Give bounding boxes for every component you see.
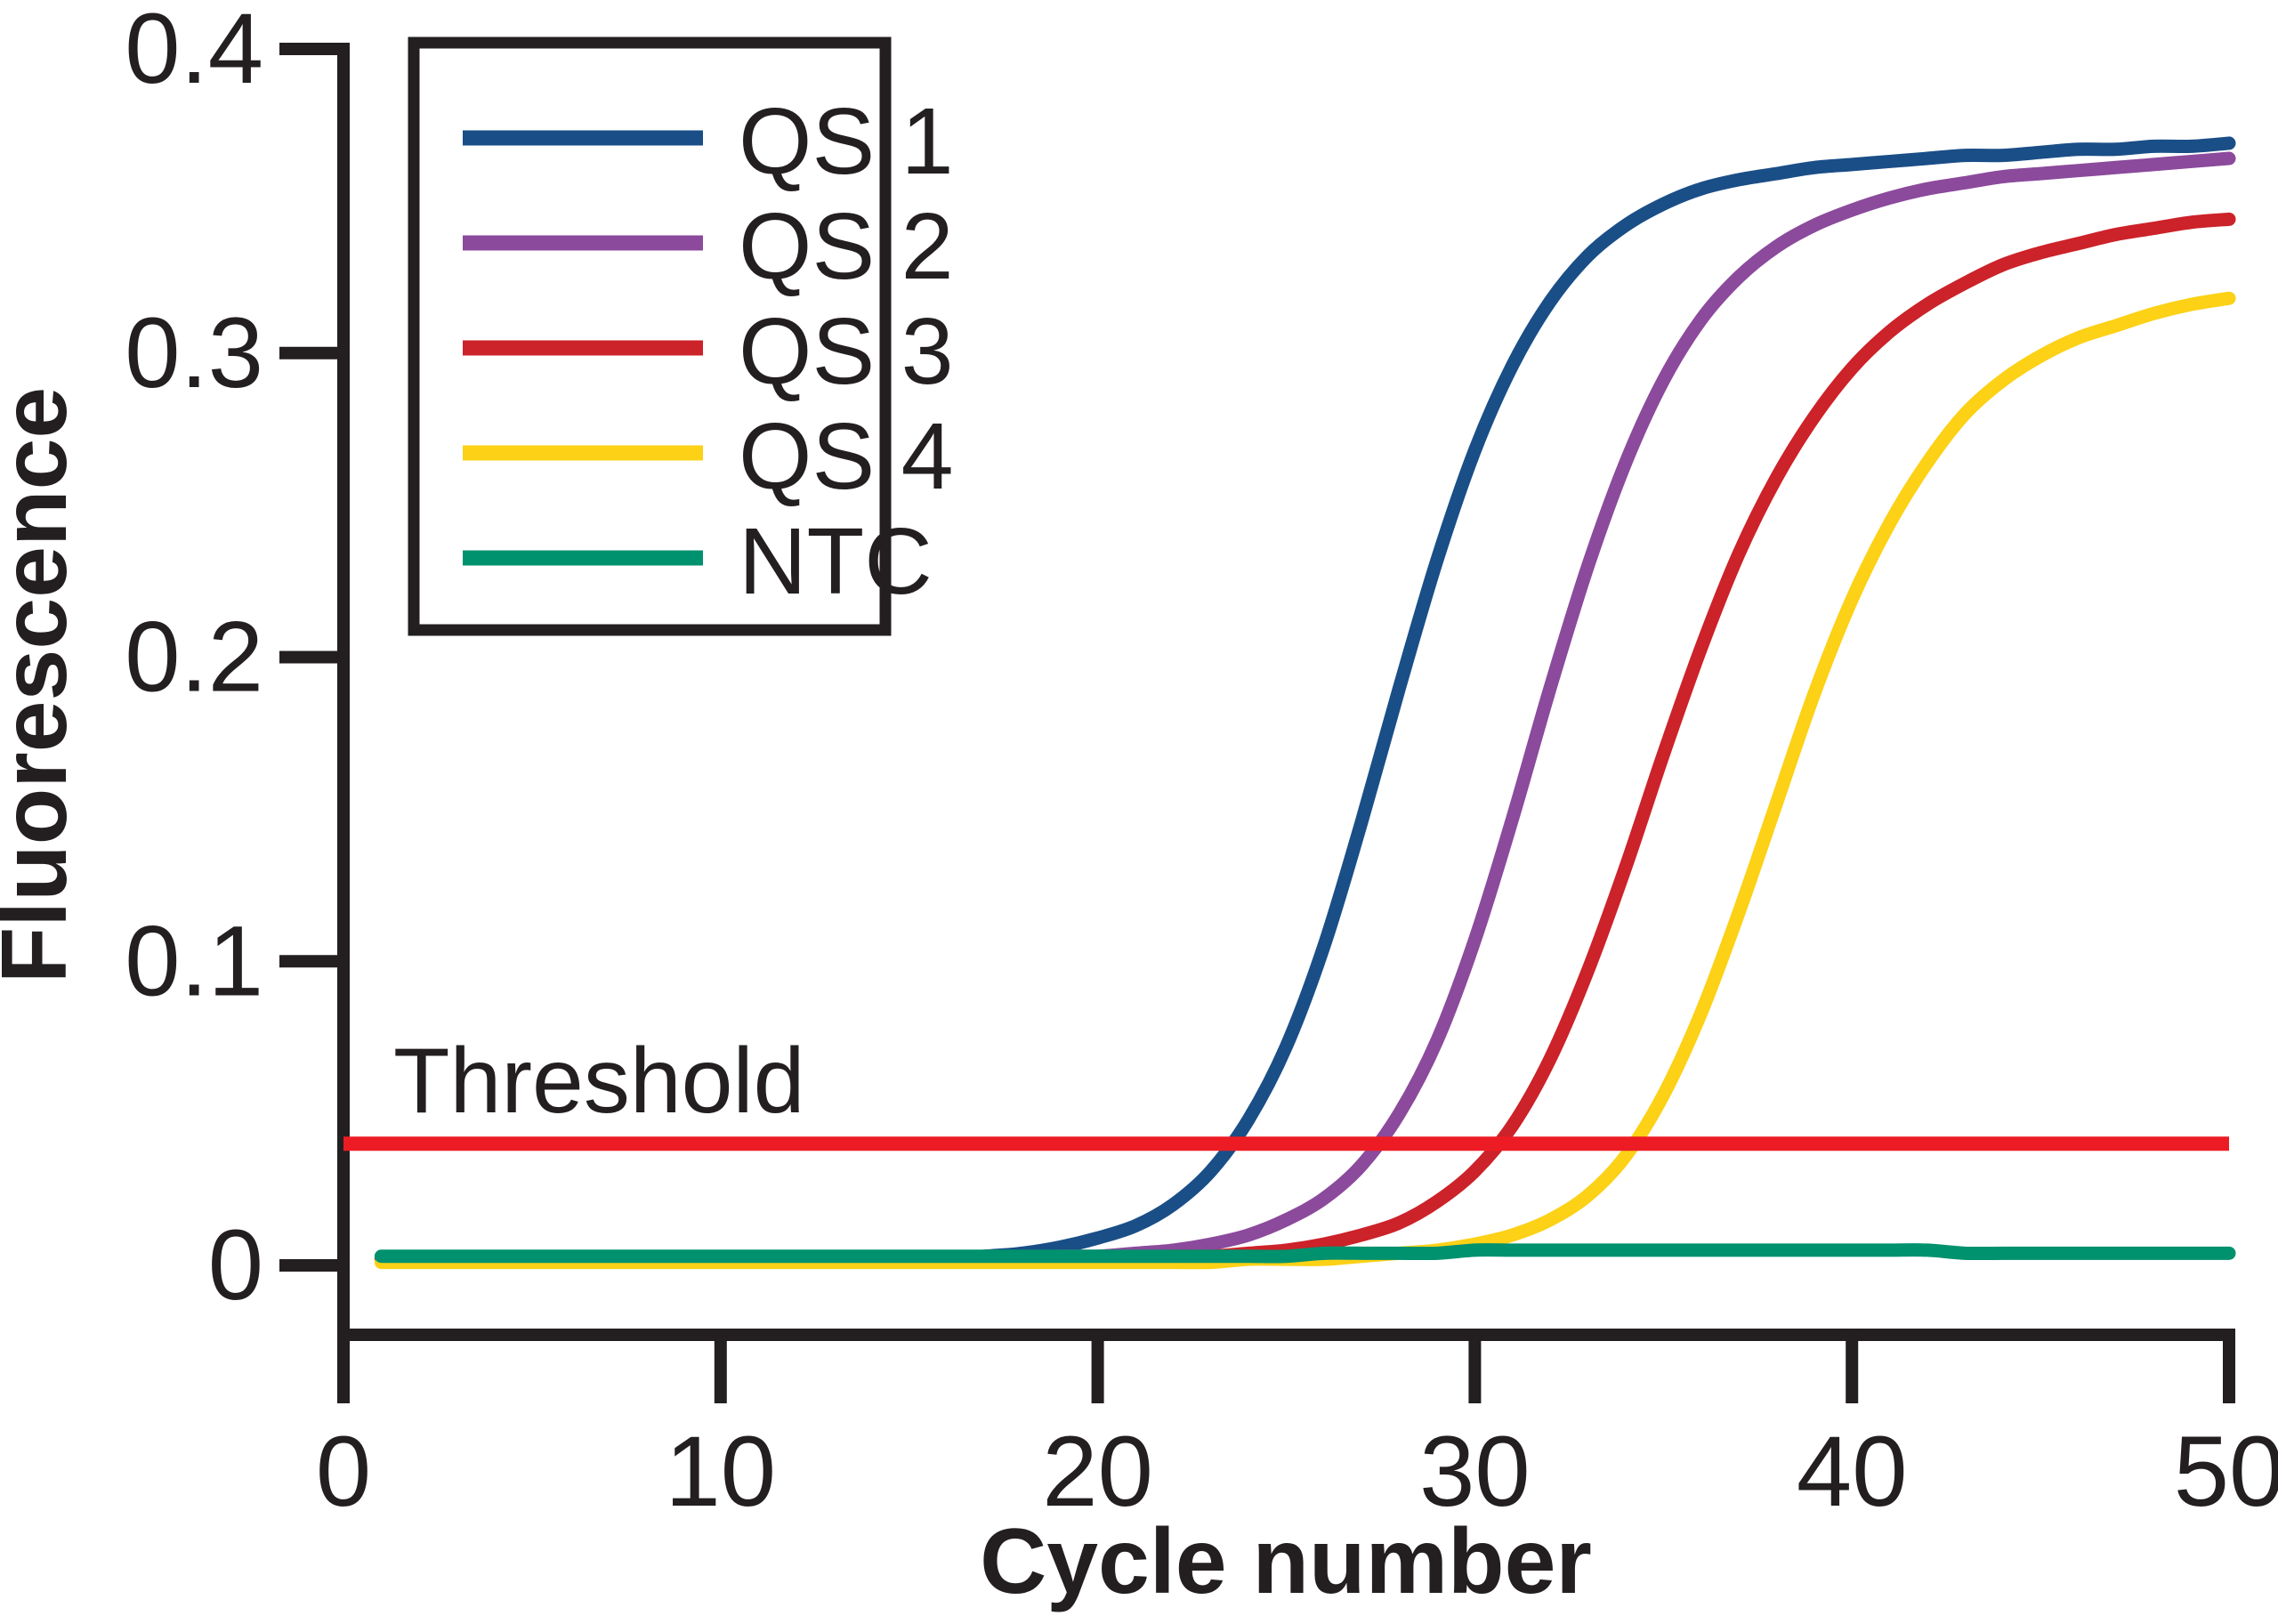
y-tick-label-2: 0.2	[125, 602, 263, 713]
y-tick-label-3: 0.3	[125, 297, 263, 408]
y-axis-title: Fluorescence	[0, 387, 86, 984]
amplification-plot: 00.10.20.30.4 01020304050 Threshold Cycl…	[0, 0, 2278, 1624]
y-tick-label-4: 0.4	[125, 0, 263, 104]
qpcr-amplification-figure: 00.10.20.30.4 01020304050 Threshold Cycl…	[0, 0, 2278, 1624]
legend-label-ntc: NTC	[739, 509, 933, 614]
legend-label-qs-1: QS 1	[739, 89, 954, 194]
x-tick-label-5: 50	[2174, 1416, 2278, 1527]
y-tick-label-0: 0	[208, 1209, 263, 1321]
x-tick-label-1: 10	[666, 1416, 777, 1527]
x-axis-title: Cycle number	[980, 1510, 1592, 1613]
legend-label-qs-2: QS 2	[739, 194, 954, 299]
curve-ntc	[381, 1250, 2229, 1256]
threshold-label: Threshold	[393, 1030, 804, 1133]
x-tick-label-4: 40	[1797, 1416, 1908, 1527]
y-tick-label-1: 0.1	[125, 905, 263, 1016]
legend-label-qs-3: QS 3	[739, 299, 954, 404]
legend: QS 1QS 2QS 3QS 4NTC	[414, 43, 954, 630]
x-tick-label-0: 0	[316, 1416, 371, 1527]
legend-label-qs-4: QS 4	[739, 404, 954, 509]
